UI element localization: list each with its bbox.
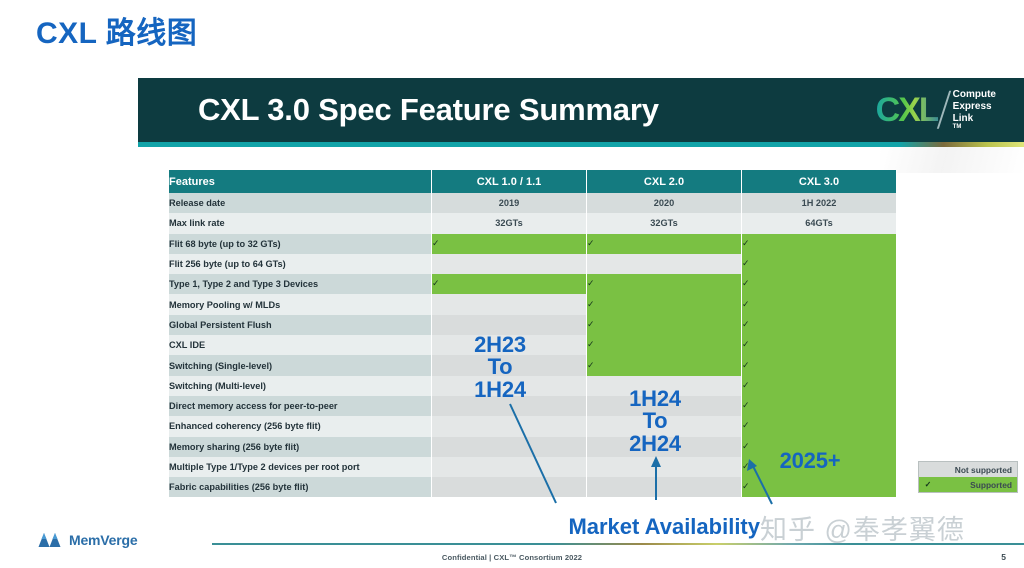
footer-confidential-note: Confidential | CXL™ Consortium 2022: [0, 553, 1024, 562]
legend-supported-label: Supported: [937, 480, 1017, 490]
connector-line-cxl3: [752, 464, 772, 504]
legend-not-supported-label: Not supported: [937, 465, 1017, 475]
memverge-triangles-icon: [38, 532, 64, 548]
footer-divider: [212, 543, 1024, 545]
memverge-logo: MemVerge: [38, 532, 137, 548]
connector-line-cxl1: [510, 404, 556, 503]
annotation-market-availability: Market Availability: [430, 514, 760, 540]
memverge-wordmark: MemVerge: [69, 532, 137, 548]
legend: Not supported ✓ Supported: [918, 461, 1018, 493]
legend-row-not-supported: Not supported: [919, 462, 1017, 477]
slide-canvas: CXL 3.0 Spec Feature Summary CXL Compute…: [0, 66, 1024, 568]
legend-row-supported: ✓ Supported: [919, 477, 1017, 492]
annotation-connectors: [0, 66, 1024, 568]
watermark: 知乎 @奉孝翼德: [760, 508, 965, 547]
page-title: CXL 路线图: [36, 8, 197, 52]
footer-divider-gradient: [552, 543, 852, 545]
page-number: 5: [1001, 552, 1006, 562]
connector-arrow-cxl2: [651, 456, 661, 467]
legend-check-icon: ✓: [919, 480, 937, 489]
